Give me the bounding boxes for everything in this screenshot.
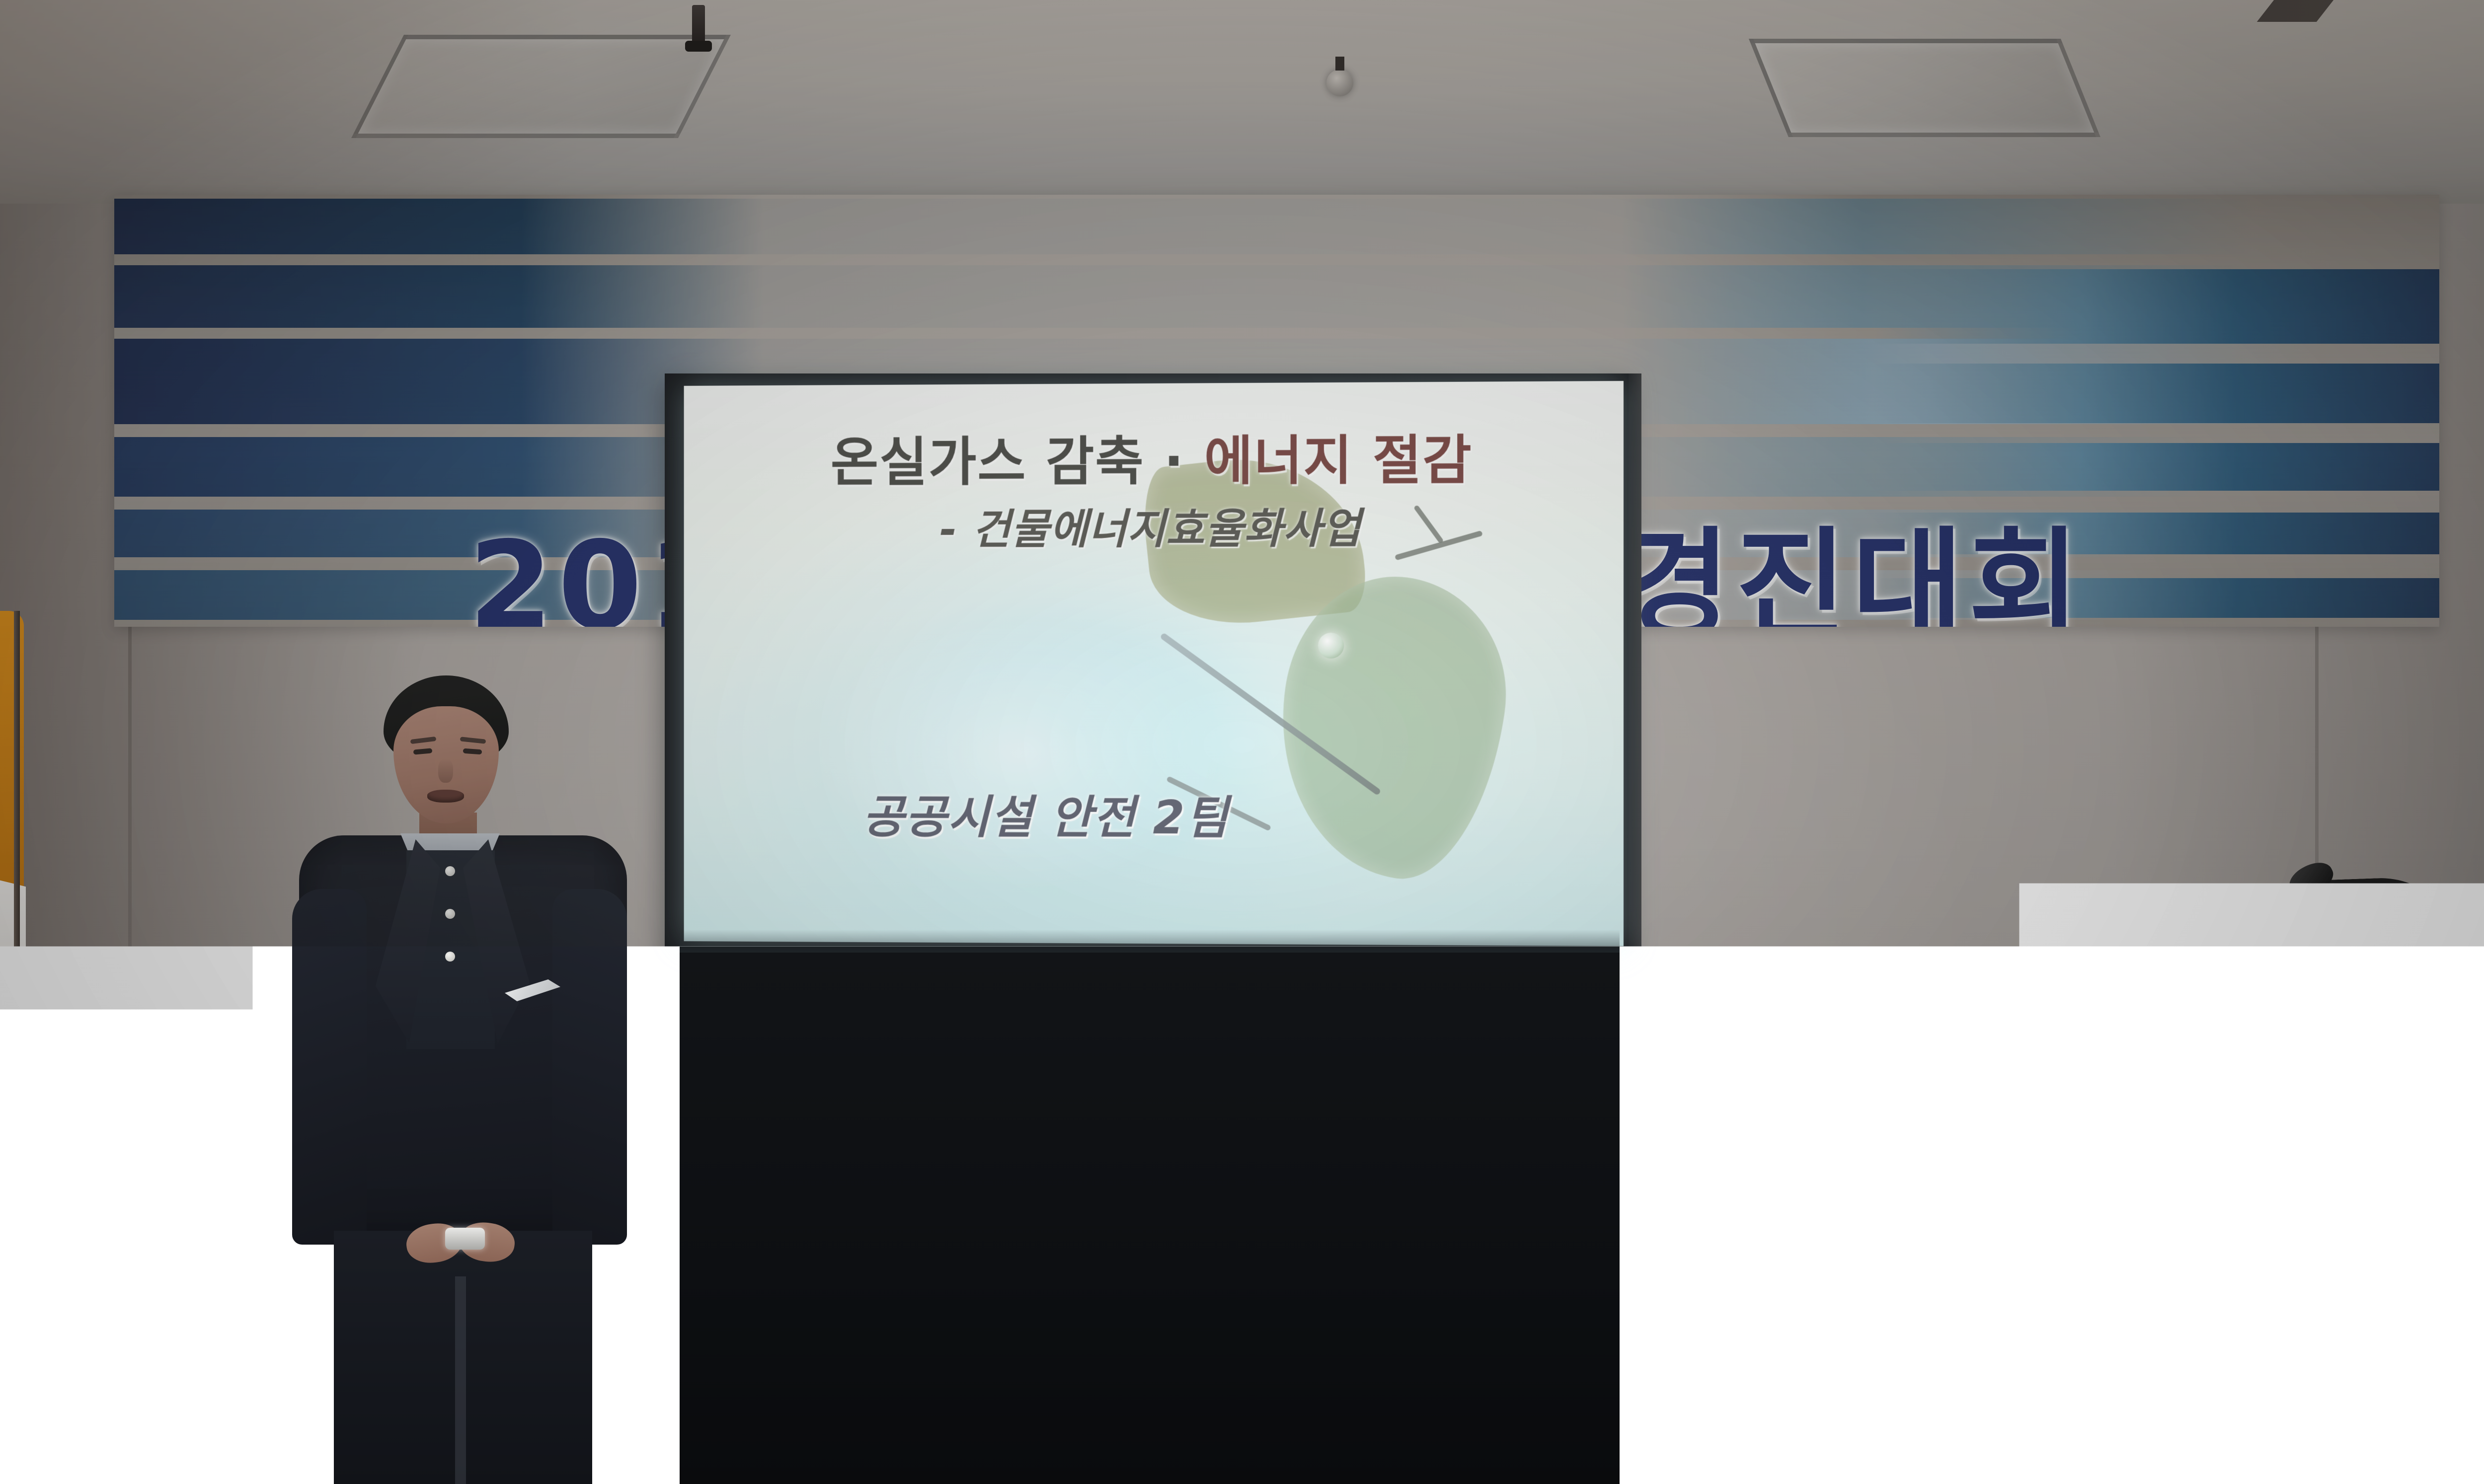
slide-team-label: 공공시설 안전 2팀 — [684, 780, 1411, 848]
projection-screen-surface: 온실가스 감축 · 에너지 절감 - 건물에너지효율화사업 공공시설 안전 2팀 — [684, 381, 1624, 946]
cart-top-rail — [45, 1063, 282, 1090]
bottle-label-logo — [2058, 1455, 2074, 1471]
dewdrop-highlight — [1318, 633, 1344, 659]
cable-foreground — [566, 1465, 725, 1484]
cart-knob — [84, 1074, 132, 1102]
left-flag — [0, 611, 30, 1068]
left-foreground-desk — [0, 1430, 378, 1484]
podium-top-surface — [2072, 1003, 2484, 1051]
pegboard-hole — [144, 1221, 149, 1226]
presentation-clicker — [445, 1228, 485, 1250]
flag-pole — [14, 611, 20, 1068]
projector — [769, 1401, 1052, 1484]
shirt-button — [445, 866, 455, 876]
cup-dispenser — [179, 1049, 229, 1067]
slide-subtitle: - 건물에너지효율화사업 — [684, 494, 1624, 557]
pegboard-hole — [205, 1335, 210, 1340]
nose — [438, 759, 453, 783]
paper-cup-rim — [2083, 1409, 2134, 1416]
water-bottle — [2035, 1370, 2078, 1484]
presenter — [278, 675, 646, 1484]
bird-beak-icon — [2240, 1181, 2251, 1189]
projector-control-button — [918, 1460, 945, 1477]
bottle-cap — [2046, 1382, 2067, 1391]
paper-cup-stack — [178, 1010, 233, 1051]
cart-pegboard-panel — [56, 1088, 264, 1386]
pegboard-hole — [144, 1261, 149, 1266]
screen-bottom-shadow — [680, 930, 1620, 953]
projector-control-button — [844, 1460, 870, 1477]
equipment-cart — [0, 1063, 298, 1484]
mouth — [427, 790, 464, 803]
slide-title-accent: 에너지 절감 — [1204, 429, 1473, 491]
seco-speaker-cabinet: SECO PROFESSIONAL AUDIO — [1774, 1177, 2007, 1484]
cart-clear-bottle — [204, 1073, 246, 1093]
conference-room-photo: 최우수공기업 실현을 위한 2016년도 창의혁신 경진대회 관리공단 온실가스… — [0, 0, 2484, 1484]
emblem-accent-dot — [2222, 1174, 2230, 1185]
right-arm — [552, 889, 627, 1245]
paper-cup-print — [2095, 1437, 2123, 1441]
projector-body — [778, 1433, 1043, 1484]
paper-cup — [2085, 1410, 2132, 1484]
pegboard-hole — [144, 1306, 149, 1311]
pegboard-hole — [171, 1173, 176, 1178]
projector-vent-slot — [896, 1404, 941, 1411]
speaker-brand-label: SECO — [1774, 1256, 2007, 1293]
pegboard-hole — [171, 1258, 176, 1262]
cart-yellow-object — [31, 1207, 62, 1296]
shirt-button — [445, 952, 455, 962]
pegboard-hole — [144, 1181, 149, 1186]
podium-emblem — [2178, 1138, 2272, 1228]
flag-cloth — [0, 879, 26, 1068]
left-arm — [292, 889, 367, 1245]
slide-title: 온실가스 감축 · 에너지 절감 — [684, 416, 1624, 496]
flag-fringe — [0, 611, 24, 889]
bird-eye-icon — [2192, 1156, 2198, 1162]
slide-title-main: 온실가스 감축 · — [831, 431, 1204, 493]
projector-status-light — [881, 1461, 908, 1475]
laptop-foreground — [395, 1440, 559, 1484]
speaker-grille — [1790, 1326, 1990, 1475]
ceiling-shading — [0, 0, 2484, 214]
speaker-brand-subtext: PROFESSIONAL AUDIO — [1774, 1294, 2007, 1304]
pegboard-hole — [199, 1178, 204, 1183]
pegboard-hole — [227, 1168, 232, 1173]
cart-post — [262, 1068, 277, 1425]
pegboard-hole — [177, 1341, 182, 1346]
power-led-indicator — [1865, 1180, 1913, 1192]
shirt-button — [445, 909, 455, 919]
